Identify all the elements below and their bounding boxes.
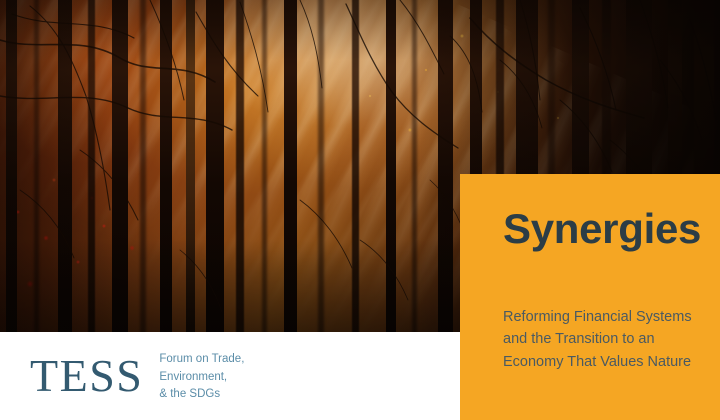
- poster-cover: Synergies Reforming Financial Systems an…: [0, 0, 720, 420]
- page-subtitle: Reforming Financial Systems and the Tran…: [503, 306, 703, 373]
- page-title: Synergies: [503, 208, 701, 250]
- logo-wordmark: TESS: [30, 353, 143, 399]
- title-panel: Synergies Reforming Financial Systems an…: [460, 174, 720, 420]
- footer-bar: TESS Forum on Trade, Environment, & the …: [0, 332, 460, 420]
- tess-logo: TESS Forum on Trade, Environment, & the …: [0, 348, 244, 403]
- logo-tagline: Forum on Trade, Environment, & the SDGs: [159, 348, 244, 403]
